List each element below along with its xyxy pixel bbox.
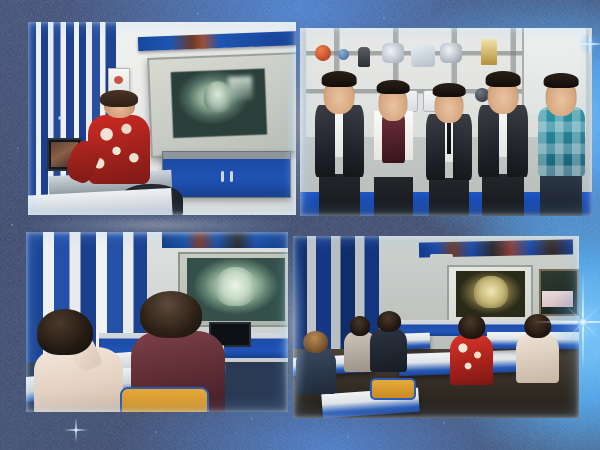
student-3-jacket-right (453, 114, 473, 181)
student-seated-5-top (516, 334, 559, 382)
shelf-globe-model (315, 45, 331, 61)
student-1-jacket-left (315, 105, 336, 177)
photo-classroom-wide-image (293, 236, 579, 418)
photo-audience-close-image (26, 232, 288, 412)
shelf-molecular-model-a (382, 43, 404, 63)
shelf-flask (358, 47, 370, 67)
student-2-maroon-vest (382, 113, 404, 163)
student-5 (537, 78, 587, 216)
student-4-torso (478, 105, 528, 177)
cabinet-handle-left (221, 171, 224, 183)
yellow-chair-1 (370, 378, 416, 400)
student-seated-4 (450, 314, 493, 383)
cabinet-handle-right (230, 171, 233, 183)
student-2-torso (370, 111, 417, 179)
student-1-jacket-right (343, 105, 364, 177)
student-seated-3-top (370, 329, 407, 372)
projection-highlight (227, 76, 252, 100)
student-3 (426, 88, 473, 216)
shelf-glass-jar (411, 45, 435, 67)
ceiling-projector (430, 254, 453, 263)
student-2-hair (377, 80, 410, 94)
student-seated-5 (516, 314, 559, 381)
control-box-indicator (114, 76, 123, 84)
student-seated-3-head (377, 311, 401, 333)
student-3-trousers (429, 178, 468, 216)
yellow-chair (120, 387, 209, 412)
student-5-hair (544, 73, 579, 88)
student-2 (370, 85, 417, 216)
projected-cosmonaut-image (170, 69, 266, 138)
student-seated-4-head (458, 314, 485, 339)
shelf-sphere-model (338, 49, 349, 60)
student-seated-2-head (350, 316, 370, 336)
student-1-torso (315, 105, 365, 177)
shelf-trophy (481, 39, 497, 65)
teacher-figure (87, 93, 151, 201)
seated-student-right-hair (140, 291, 202, 338)
photo-panel-audience-close (26, 232, 288, 412)
seated-student-left-hair (37, 309, 92, 355)
shelf-molecular-model-b (440, 43, 462, 63)
student-4 (478, 77, 528, 216)
student-4-hair (486, 71, 521, 86)
student-5-plaid-shirt (538, 107, 586, 176)
photo-panel-teacher (28, 22, 296, 215)
student-3-torso (426, 114, 473, 181)
student-1-hair (322, 71, 357, 86)
student-seated-5-head (524, 314, 551, 338)
student-2-trousers (374, 177, 413, 216)
student-5-torso (537, 106, 587, 178)
student-1 (315, 77, 365, 216)
photo-students-group-image (300, 28, 592, 216)
student-seated-1-top (296, 349, 336, 394)
wall-poster-strip (162, 232, 288, 248)
photo-collage (0, 0, 600, 450)
student-4-jacket-left (478, 105, 499, 177)
student-3-hair (433, 83, 466, 97)
teacher-hair (100, 90, 139, 107)
students-row (300, 77, 592, 216)
photo-panel-classroom-wide (293, 236, 579, 418)
student-5-jeans (540, 175, 582, 216)
photo-teacher-image (28, 22, 296, 215)
student-seated-1-head (303, 331, 329, 353)
student-seated-4-red-blouse (450, 335, 493, 385)
blue-cabinet (162, 151, 291, 197)
student-3-tie (447, 119, 452, 154)
student-seated-3 (370, 311, 407, 371)
photo-panel-students-group (300, 28, 592, 216)
student-4-trousers (482, 174, 524, 216)
student-3-jacket-left (426, 114, 446, 181)
projected-cosmonaut-face (474, 276, 508, 309)
wall-poster (542, 291, 573, 307)
student-1-trousers (319, 174, 361, 216)
student-seated-1 (296, 331, 336, 393)
projection-screen (147, 52, 296, 158)
student-4-jacket-right (507, 105, 528, 177)
seated-student-left (34, 309, 123, 412)
